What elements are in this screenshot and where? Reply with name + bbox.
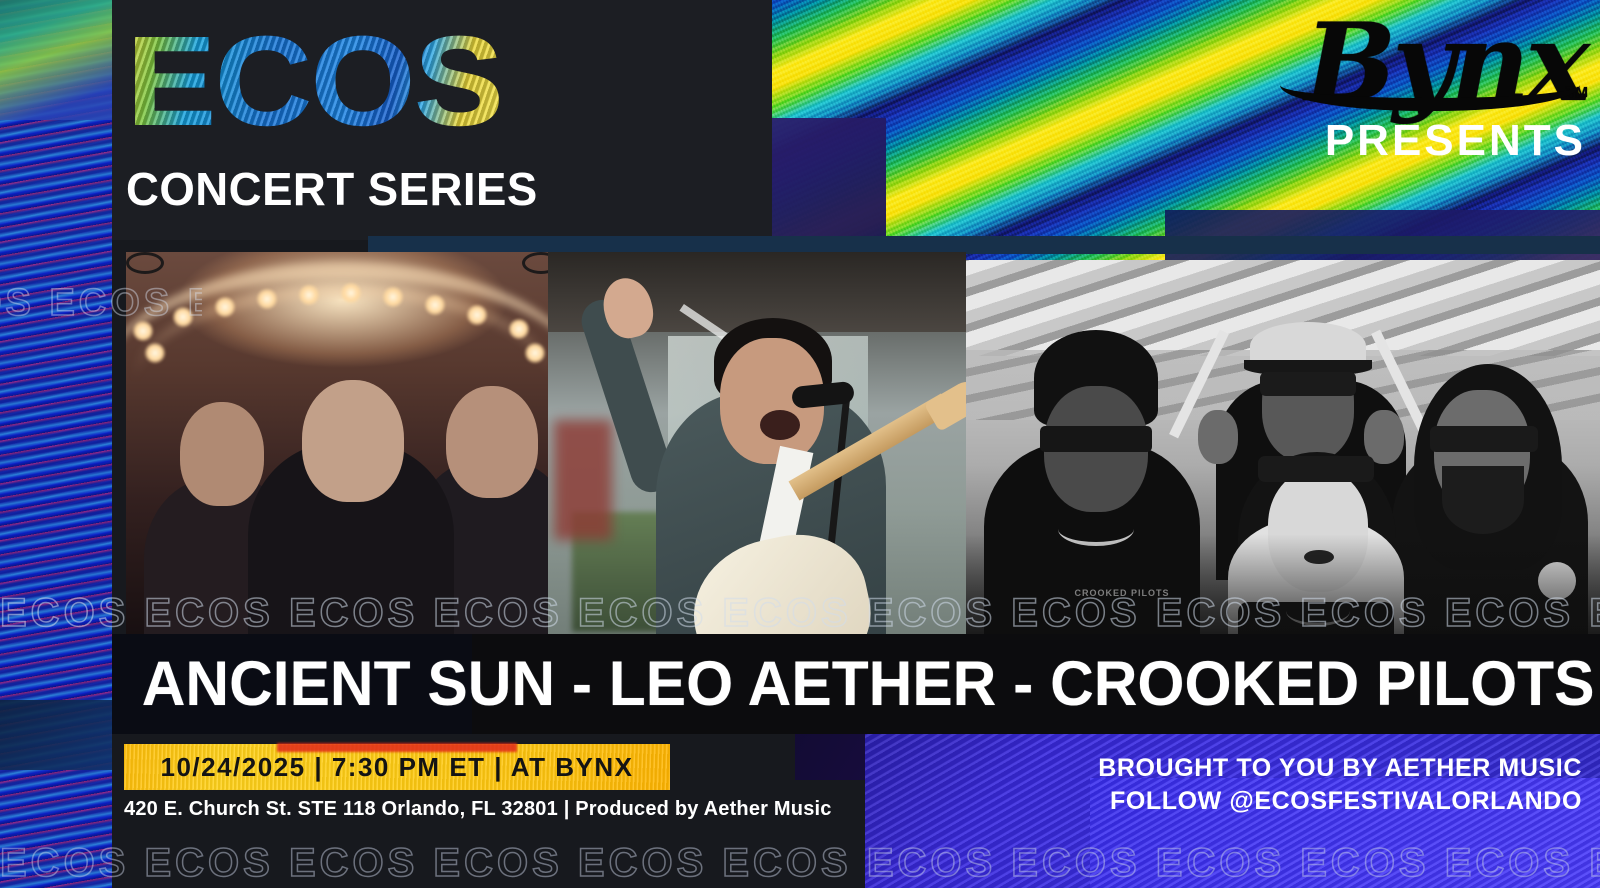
sunglasses-icon [1260, 372, 1356, 396]
event-details-bar: 10/24/2025 | 7:30 PM ET | AT BYNX [124, 744, 670, 790]
ecos-logo: ECOS [126, 18, 502, 146]
event-date-time-venue: 10/24/2025 | 7:30 PM ET | AT BYNX [160, 752, 633, 783]
ecos-watermark-left: OS ECOS ECO [0, 282, 202, 326]
lineup-artists: ANCIENT SUN - LEO AETHER - CROOKED PILOT… [142, 648, 1570, 720]
concert-series-subtitle: CONCERT SERIES [126, 166, 538, 212]
sunglasses-icon [1040, 426, 1152, 452]
sponsor-footer: BROUGHT TO YOU BY AETHER MUSIC FOLLOW @E… [1098, 752, 1582, 818]
left-edge-green-glow [0, 0, 112, 120]
photo2-red-blur [554, 420, 612, 540]
crooked-pilots-band-photo: CROOKED PILOTS [966, 260, 1600, 654]
presenter-block: Bynx TM PRESENTS [1305, 12, 1586, 163]
bynx-logo: Bynx TM [1305, 12, 1586, 115]
band-photo-row: CROOKED PILOTS [112, 250, 1600, 654]
photo1-member2-head [302, 380, 404, 502]
photo1-member1-head [180, 402, 264, 506]
brought-to-you-by-label: BROUGHT TO YOU BY AETHER MUSIC [1098, 752, 1582, 785]
photo3-member2-hand-left [1198, 410, 1238, 464]
photo2-open-mouth [760, 410, 800, 440]
venue-address-line: 420 E. Church St. STE 118 Orlando, FL 32… [124, 798, 832, 821]
sunglasses-icon [1430, 426, 1538, 452]
leo-aether-performance-photo [548, 252, 966, 654]
photo1-member3-head [446, 386, 538, 498]
lowerleft-navy-block [0, 700, 112, 770]
photo3-member4-beard [1442, 466, 1524, 534]
follow-handle-label[interactable]: FOLLOW @ECOSFESTIVALORLANDO [1098, 785, 1582, 818]
sunglasses-on-head-icon [1258, 456, 1374, 482]
concert-poster: ECOS CONCERT SERIES Bynx TM PRESENTS [0, 0, 1600, 888]
